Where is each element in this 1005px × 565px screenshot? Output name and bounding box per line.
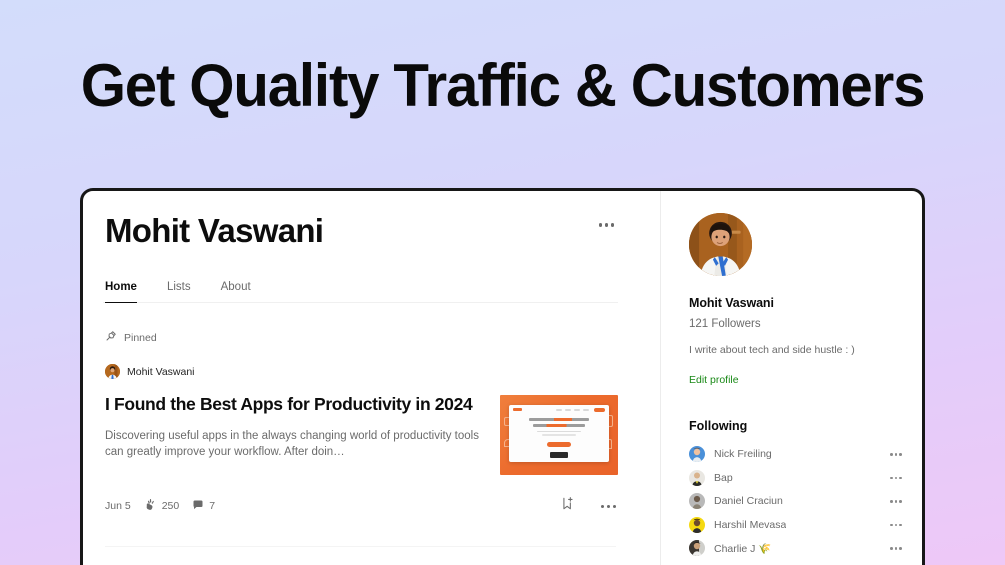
bookmark-add-icon[interactable] bbox=[561, 496, 575, 516]
article-excerpt: Discovering useful apps in the always ch… bbox=[105, 428, 480, 461]
followers-count[interactable]: 121 Followers bbox=[689, 318, 922, 330]
thumbnail-badge bbox=[550, 452, 568, 458]
hero-section: Get Quality Traffic & Customers bbox=[0, 56, 1005, 116]
thumbnail-navbar bbox=[509, 405, 609, 414]
avatar bbox=[689, 446, 705, 462]
article-author: Mohit Vaswani bbox=[127, 366, 195, 378]
profile-bio: I write about tech and side hustle : ) bbox=[689, 343, 922, 358]
list-item[interactable]: Charlie J 🌾 bbox=[689, 537, 902, 561]
more-horizontal-icon[interactable] bbox=[890, 524, 902, 527]
sidebar: Mohit Vaswani 121 Followers I write abou… bbox=[660, 191, 922, 565]
avatar bbox=[689, 493, 705, 509]
more-horizontal-icon[interactable] bbox=[890, 477, 902, 480]
page-title: Get Quality Traffic & Customers bbox=[15, 56, 990, 116]
article-text: I Found the Best Apps for Productivity i… bbox=[105, 393, 480, 475]
main-column: Mohit Vaswani Home Lists About Pinned bbox=[83, 191, 660, 565]
profile-header: Mohit Vaswani bbox=[103, 213, 618, 249]
following-name: Charlie J 🌾 bbox=[714, 542, 771, 555]
tab-lists[interactable]: Lists bbox=[167, 281, 191, 303]
more-horizontal-icon[interactable] bbox=[890, 547, 902, 550]
pinned-indicator: Pinned bbox=[103, 329, 618, 347]
article-title[interactable]: I Found the Best Apps for Productivity i… bbox=[105, 393, 480, 415]
thumbnail-logo bbox=[513, 408, 522, 411]
list-item[interactable]: Nick Freiling bbox=[689, 443, 902, 467]
thumbnail-cta-button bbox=[547, 442, 571, 447]
edit-profile-link[interactable]: Edit profile bbox=[689, 374, 739, 386]
thumbnail-cta-small bbox=[594, 408, 605, 412]
list-item[interactable]: Bap bbox=[689, 466, 902, 490]
article-date: Jun 5 bbox=[105, 500, 131, 512]
avatar bbox=[689, 470, 705, 486]
more-horizontal-icon[interactable] bbox=[890, 500, 902, 503]
clap-icon bbox=[144, 498, 157, 514]
profile-card: Mohit Vaswani Home Lists About Pinned bbox=[80, 188, 925, 565]
more-horizontal-icon[interactable] bbox=[601, 505, 617, 509]
comment-stat[interactable]: 7 bbox=[192, 499, 215, 514]
thumbnail-headline bbox=[520, 418, 598, 457]
article-meta: Jun 5 250 bbox=[103, 496, 618, 516]
list-item[interactable]: Harshil Mevasa bbox=[689, 513, 902, 537]
section-divider bbox=[105, 546, 616, 547]
profile-name: Mohit Vaswani bbox=[104, 213, 323, 249]
comment-count: 7 bbox=[209, 500, 215, 512]
clap-stat[interactable]: 250 bbox=[144, 498, 180, 514]
thumbnail-screenshot bbox=[509, 405, 609, 462]
article-card[interactable]: I Found the Best Apps for Productivity i… bbox=[103, 393, 618, 475]
avatar[interactable] bbox=[689, 213, 752, 276]
pinned-label: Pinned bbox=[124, 332, 157, 344]
avatar bbox=[689, 540, 705, 556]
tab-home[interactable]: Home bbox=[105, 281, 137, 303]
following-name: Harshil Mevasa bbox=[714, 519, 786, 531]
comment-icon bbox=[192, 499, 204, 514]
avatar bbox=[105, 364, 120, 379]
following-name: Daniel Craciun bbox=[714, 495, 783, 507]
article-thumbnail[interactable] bbox=[500, 395, 618, 475]
following-list: Nick Freiling Bap bbox=[689, 443, 922, 561]
more-horizontal-icon[interactable] bbox=[890, 453, 902, 456]
article-byline[interactable]: Mohit Vaswani bbox=[103, 364, 618, 379]
following-name: Nick Freiling bbox=[714, 448, 772, 460]
list-item[interactable]: Daniel Craciun bbox=[689, 490, 902, 514]
following-name: Bap bbox=[714, 472, 733, 484]
profile-tabs: Home Lists About bbox=[103, 280, 618, 303]
following-heading: Following bbox=[689, 419, 922, 433]
avatar bbox=[689, 517, 705, 533]
sidebar-profile-name: Mohit Vaswani bbox=[689, 296, 922, 310]
more-horizontal-icon[interactable] bbox=[599, 213, 619, 227]
pin-icon bbox=[105, 329, 117, 347]
clap-count: 250 bbox=[162, 500, 180, 512]
tab-about[interactable]: About bbox=[221, 281, 251, 303]
